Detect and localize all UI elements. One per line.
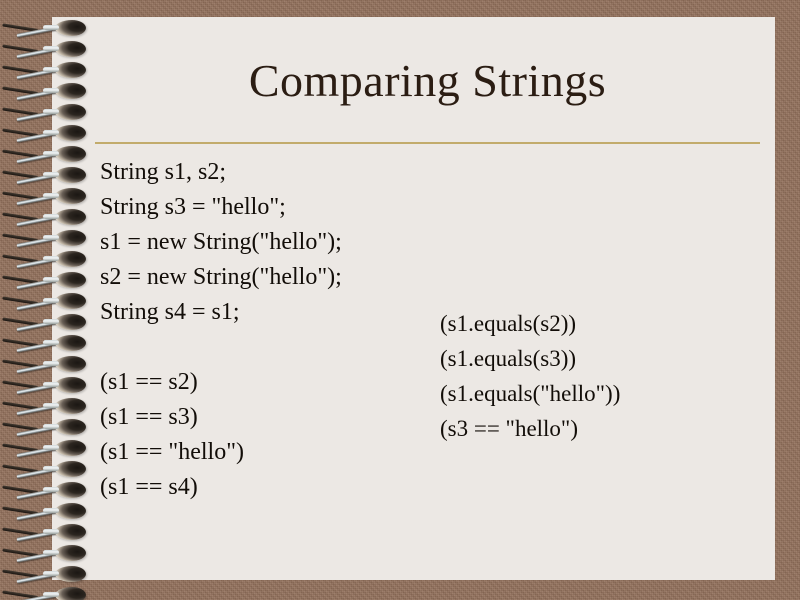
binding-wire-back	[2, 443, 38, 452]
binding-wire-back	[2, 569, 38, 578]
binding-wire-back	[2, 212, 38, 221]
binding-wire-back	[2, 149, 38, 158]
code-right-line: (s1.equals("hello"))	[440, 376, 620, 411]
binding-wire-back	[2, 359, 38, 368]
slide-canvas: Comparing Strings String s1, s2;String s…	[0, 0, 800, 600]
binding-wire-back	[2, 128, 38, 137]
code-left-spacer	[100, 330, 342, 365]
binding-wire-back	[2, 317, 38, 326]
binding-wire-back	[2, 527, 38, 536]
code-left-line: s1 = new String("hello");	[100, 225, 342, 260]
binding-wire-back	[2, 485, 38, 494]
binding-wire-back	[2, 107, 38, 116]
binding-wire-front	[16, 592, 62, 600]
binding-wire-back	[2, 548, 38, 557]
code-left-line: String s3 = "hello";	[100, 190, 342, 225]
binding-wire-back	[2, 191, 38, 200]
binding-wire-back	[2, 254, 38, 263]
binding-wire-back	[2, 296, 38, 305]
code-left-line: (s1 == s2)	[100, 365, 342, 400]
code-left-line: s2 = new String("hello");	[100, 260, 342, 295]
binding-wire-back	[2, 338, 38, 347]
binding-wire-back	[2, 44, 38, 53]
binding-wire-back	[2, 506, 38, 515]
binding-wire-back	[2, 590, 38, 599]
binding-wire-back	[2, 65, 38, 74]
code-column-right: (s1.equals(s2))(s1.equals(s3))(s1.equals…	[440, 306, 620, 446]
binding-ring-head	[55, 587, 86, 600]
binding-wire-back	[2, 275, 38, 284]
binding-wire-back	[2, 422, 38, 431]
page-title: Comparing Strings	[95, 53, 760, 109]
binding-wire-back	[2, 233, 38, 242]
code-left-line: String s4 = s1;	[100, 295, 342, 330]
code-left-line: String s1, s2;	[100, 155, 342, 190]
binding-wire-back	[2, 401, 38, 410]
code-column-left: String s1, s2;String s3 = "hello";s1 = n…	[100, 155, 342, 505]
code-left-line: (s1 == s3)	[100, 400, 342, 435]
spiral-binding-ring-icon	[0, 585, 110, 600]
title-divider	[95, 142, 760, 144]
code-right-line: (s1.equals(s2))	[440, 306, 620, 341]
binding-wire-back	[2, 380, 38, 389]
binding-wire-back	[2, 464, 38, 473]
binding-wire-back	[2, 86, 38, 95]
code-right-line: (s3 == "hello")	[440, 411, 620, 446]
binding-wire-back	[2, 170, 38, 179]
code-right-line: (s1.equals(s3))	[440, 341, 620, 376]
code-left-line: (s1 == s4)	[100, 470, 342, 505]
binding-wire-back	[2, 23, 38, 32]
code-left-line: (s1 == "hello")	[100, 435, 342, 470]
